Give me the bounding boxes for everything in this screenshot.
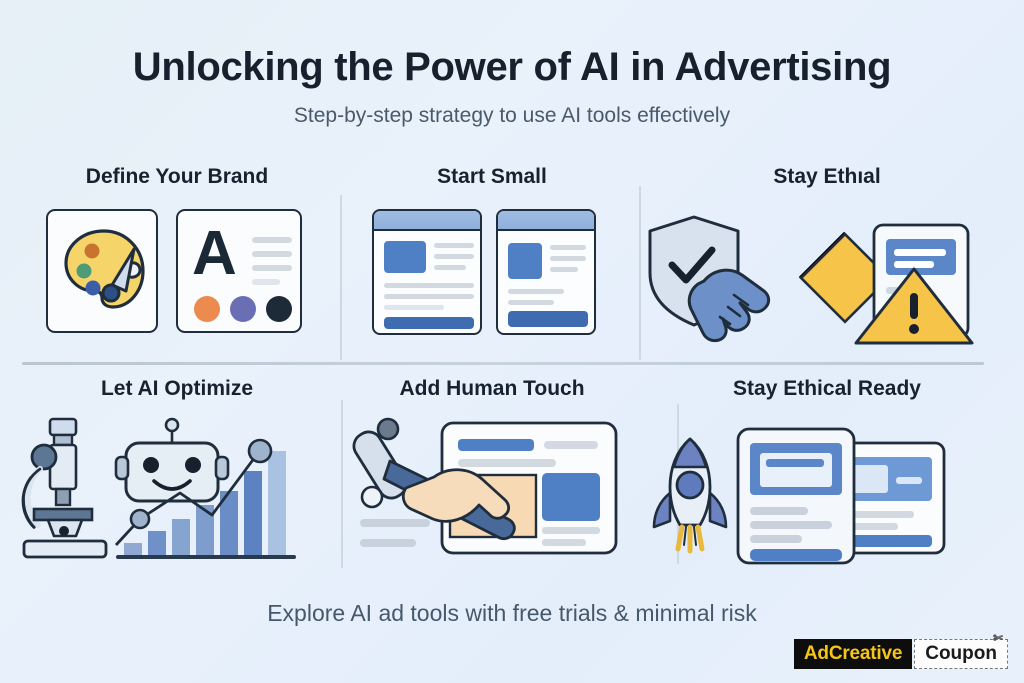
color-swatch-orange <box>194 296 220 322</box>
section-heading: Let AI Optimize <box>12 377 342 401</box>
text-line <box>252 279 280 285</box>
footer-text: Explore AI ad tools with free trials & m… <box>0 600 1024 627</box>
text-line <box>384 305 444 310</box>
text-line <box>550 245 586 250</box>
document-card-front <box>738 429 854 563</box>
section-add-human-touch: Add Human Touch <box>346 377 638 570</box>
illustration-palette-and-typography: A <box>12 203 342 358</box>
robot-head-icon <box>116 419 228 501</box>
human-touch-graphic <box>346 415 638 570</box>
text-line <box>508 289 564 294</box>
infographic-canvas: Unlocking the Power of AI in Advertising… <box>0 0 1024 683</box>
cta-button <box>384 317 474 329</box>
color-swatch-navy <box>266 296 292 322</box>
trust-and-compliance-graphic <box>642 203 1012 353</box>
launch-ready-graphic <box>642 415 1012 570</box>
letter-a-glyph: A <box>192 223 237 285</box>
ad-mockup-card-large <box>372 209 482 335</box>
palette-card <box>46 209 158 333</box>
text-line <box>434 243 474 248</box>
text-line <box>252 251 292 257</box>
image-block <box>508 243 542 279</box>
scissors-icon: ✄ <box>993 631 1003 645</box>
illustration-shield-handshake-warning <box>642 203 1012 358</box>
text-line <box>508 300 554 305</box>
cta-button <box>508 311 588 327</box>
text-line <box>384 294 474 299</box>
text-line <box>360 539 416 547</box>
rocket-icon <box>654 439 726 551</box>
color-swatch-purple <box>230 296 256 322</box>
section-start-small: Start Small <box>346 165 638 358</box>
page-subtitle: Step-by-step strategy to use AI tools ef… <box>0 104 1024 128</box>
card-header-bar <box>498 211 594 231</box>
adcreative-coupon-badge[interactable]: AdCreative ✄ Coupon <box>794 639 1008 669</box>
typography-card: A <box>176 209 302 333</box>
illustration-microscope-robot-chart <box>12 415 342 570</box>
text-line <box>360 519 430 527</box>
text-line <box>550 267 578 272</box>
section-stay-ethial: Stay Ethıal <box>642 165 1012 358</box>
text-line <box>434 254 474 259</box>
card-header-bar <box>374 211 480 231</box>
badge-brand-label: AdCreative <box>794 639 912 669</box>
illustration-hand-pen-document <box>346 415 638 570</box>
handshake-icon <box>689 270 768 340</box>
section-define-your-brand: Define Your Brand A <box>12 165 342 358</box>
badge-coupon-text: Coupon <box>925 643 997 665</box>
sections-grid: Define Your Brand A <box>0 155 1024 575</box>
text-line <box>550 256 586 261</box>
paint-palette-icon <box>48 211 160 335</box>
section-heading: Start Small <box>346 165 638 189</box>
illustration-two-ad-mockups <box>346 203 638 358</box>
text-line <box>252 265 292 271</box>
page-title: Unlocking the Power of AI in Advertising <box>0 45 1024 90</box>
microscope-icon <box>23 419 106 557</box>
badge-coupon-label: ✄ Coupon <box>914 639 1008 669</box>
ai-optimization-graphic <box>12 415 342 570</box>
text-line <box>252 237 292 243</box>
text-line <box>384 283 474 288</box>
ad-mockup-card-small <box>496 209 596 335</box>
image-block <box>384 241 426 273</box>
section-stay-ethical-ready: Stay Ethical Ready <box>642 377 1012 570</box>
text-line <box>434 265 466 270</box>
section-heading: Stay Ethical Ready <box>642 377 1012 401</box>
section-heading: Define Your Brand <box>12 165 342 189</box>
section-let-ai-optimize: Let AI Optimize <box>12 377 342 570</box>
section-heading: Add Human Touch <box>346 377 638 401</box>
illustration-rocket-documents <box>642 415 1012 570</box>
section-heading: Stay Ethıal <box>642 165 1012 189</box>
